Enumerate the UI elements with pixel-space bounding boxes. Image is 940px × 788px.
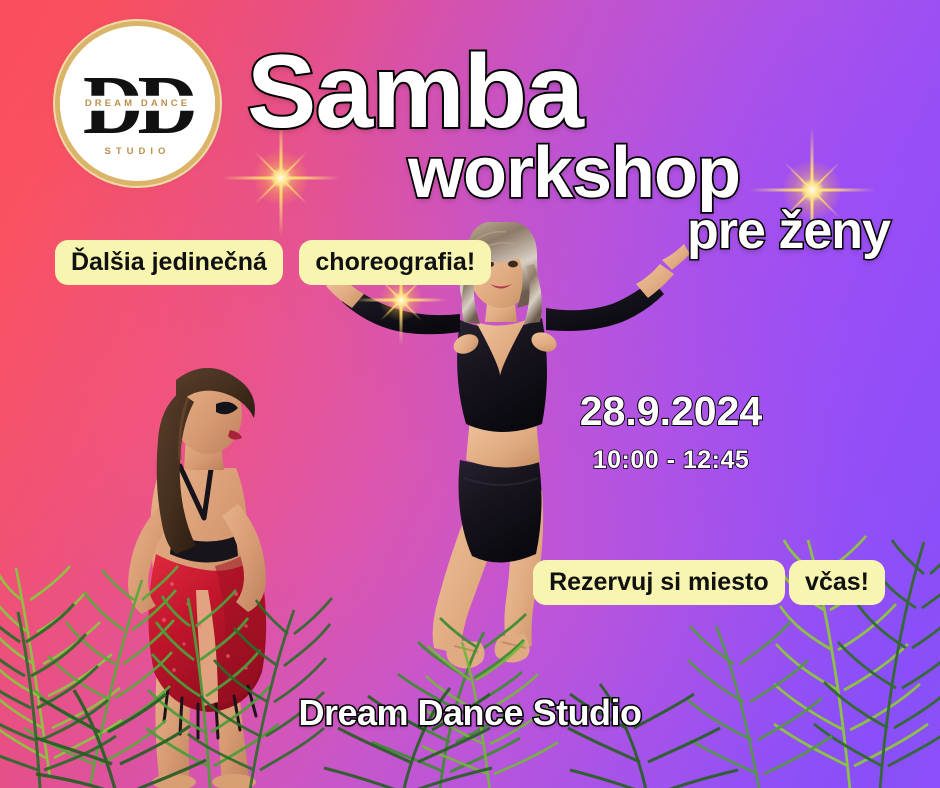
badge-choreography: Ďalšia jedinečná choreografia! <box>55 238 491 285</box>
headline-line-samba: Samba <box>0 42 898 144</box>
event-date: 28.9.2024 <box>556 388 786 435</box>
badge-reservation: Rezervuj si miesto včas! <box>533 558 885 605</box>
headline-block: Samba workshop pre ženy <box>0 42 898 257</box>
badge-choreography-line1: Ďalšia jedinečná <box>55 240 283 285</box>
poster-canvas: DD DREAM DANCE STUDIO Samba workshop pre… <box>0 0 940 788</box>
headline-line-workshop: workshop <box>0 138 898 209</box>
badge-reservation-line2: včas! <box>789 560 885 605</box>
badge-reservation-line1: Rezervuj si miesto <box>533 560 785 605</box>
event-datetime: 28.9.2024 10:00 - 12:45 <box>556 388 786 475</box>
event-time: 10:00 - 12:45 <box>556 446 786 475</box>
badge-choreography-line2: choreografia! <box>299 240 491 285</box>
footer-studio-name: Dream Dance Studio <box>0 692 940 734</box>
